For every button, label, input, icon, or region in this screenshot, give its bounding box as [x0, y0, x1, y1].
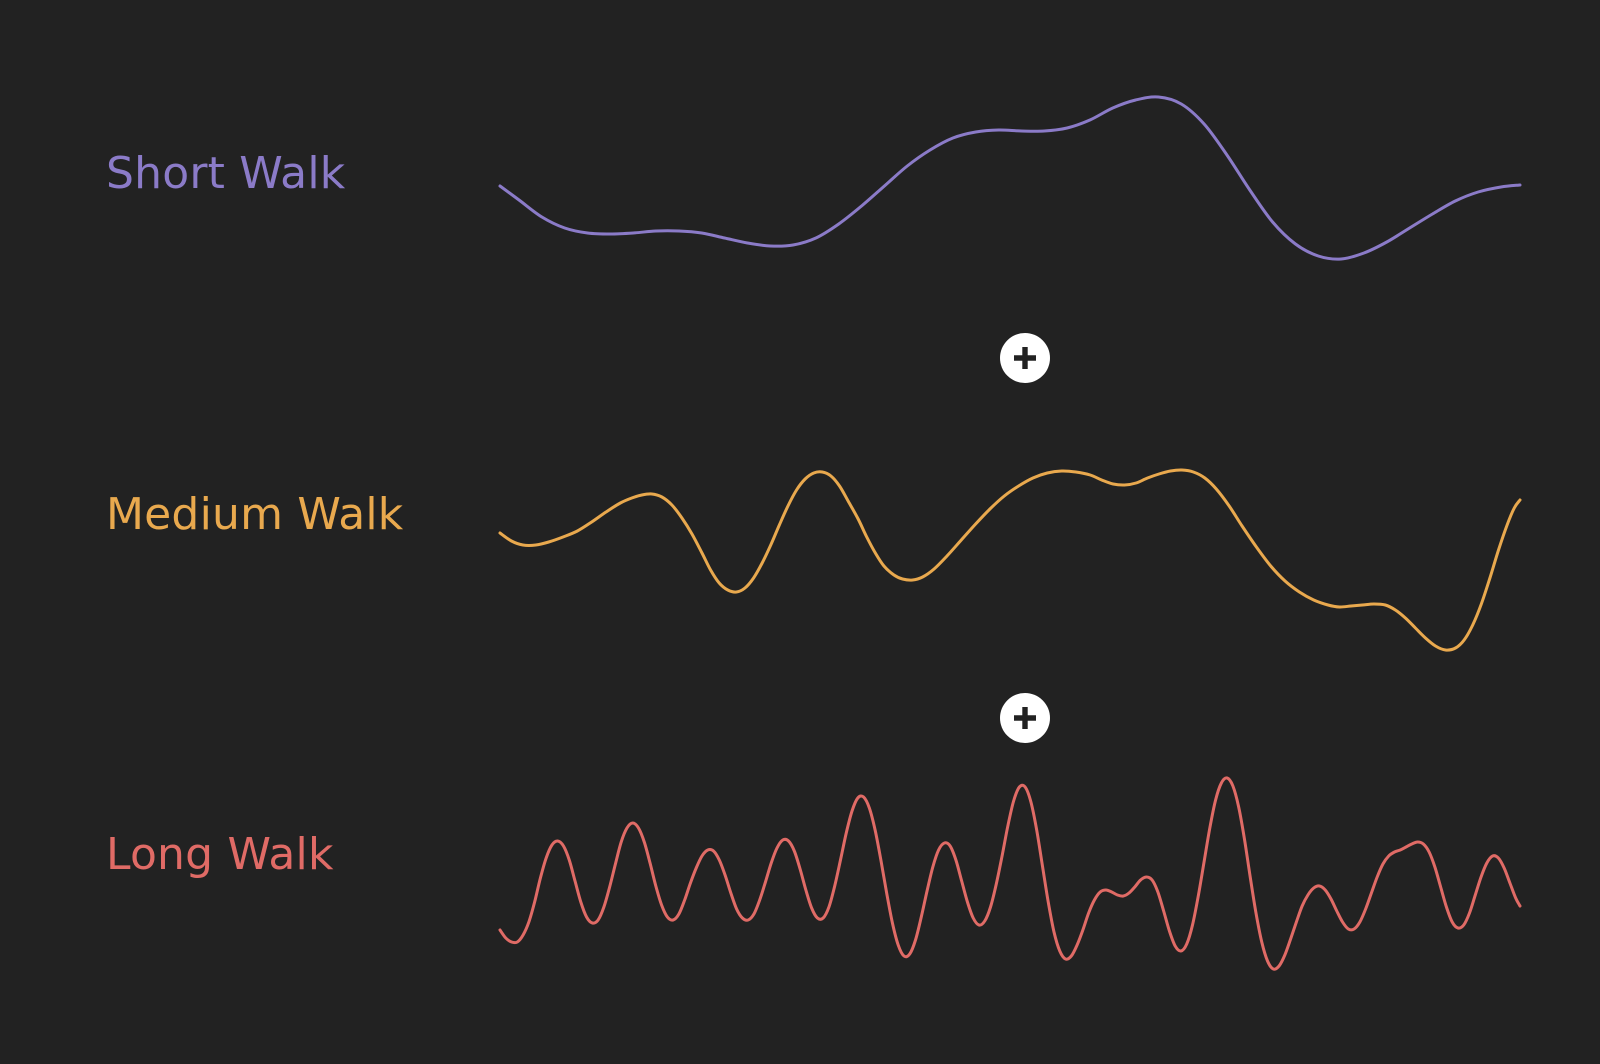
long-walk-line-svg — [500, 750, 1520, 980]
plus-icon — [1000, 693, 1050, 743]
series-label-medium-walk: Medium Walk — [106, 489, 403, 540]
short-walk-line-svg — [500, 40, 1520, 290]
plus-glyph — [1012, 705, 1038, 731]
plus-glyph — [1012, 345, 1038, 371]
medium-walk-line-svg — [500, 420, 1520, 640]
series-curve-medium-walk — [500, 420, 1520, 640]
series-curve-short-walk — [500, 40, 1520, 290]
series-path — [500, 97, 1520, 259]
plus-icon — [1000, 333, 1050, 383]
series-label-short-walk: Short Walk — [106, 148, 345, 199]
series-row-long-walk: Long Walk — [0, 750, 1600, 980]
series-path — [500, 778, 1520, 969]
series-row-short-walk: Short Walk — [0, 40, 1600, 290]
series-curve-long-walk — [500, 750, 1520, 980]
random-walk-figure: Short Walk Medium Walk Long Walk — [0, 0, 1600, 1064]
series-path — [500, 470, 1520, 650]
series-row-medium-walk: Medium Walk — [0, 420, 1600, 640]
series-label-long-walk: Long Walk — [106, 829, 334, 880]
